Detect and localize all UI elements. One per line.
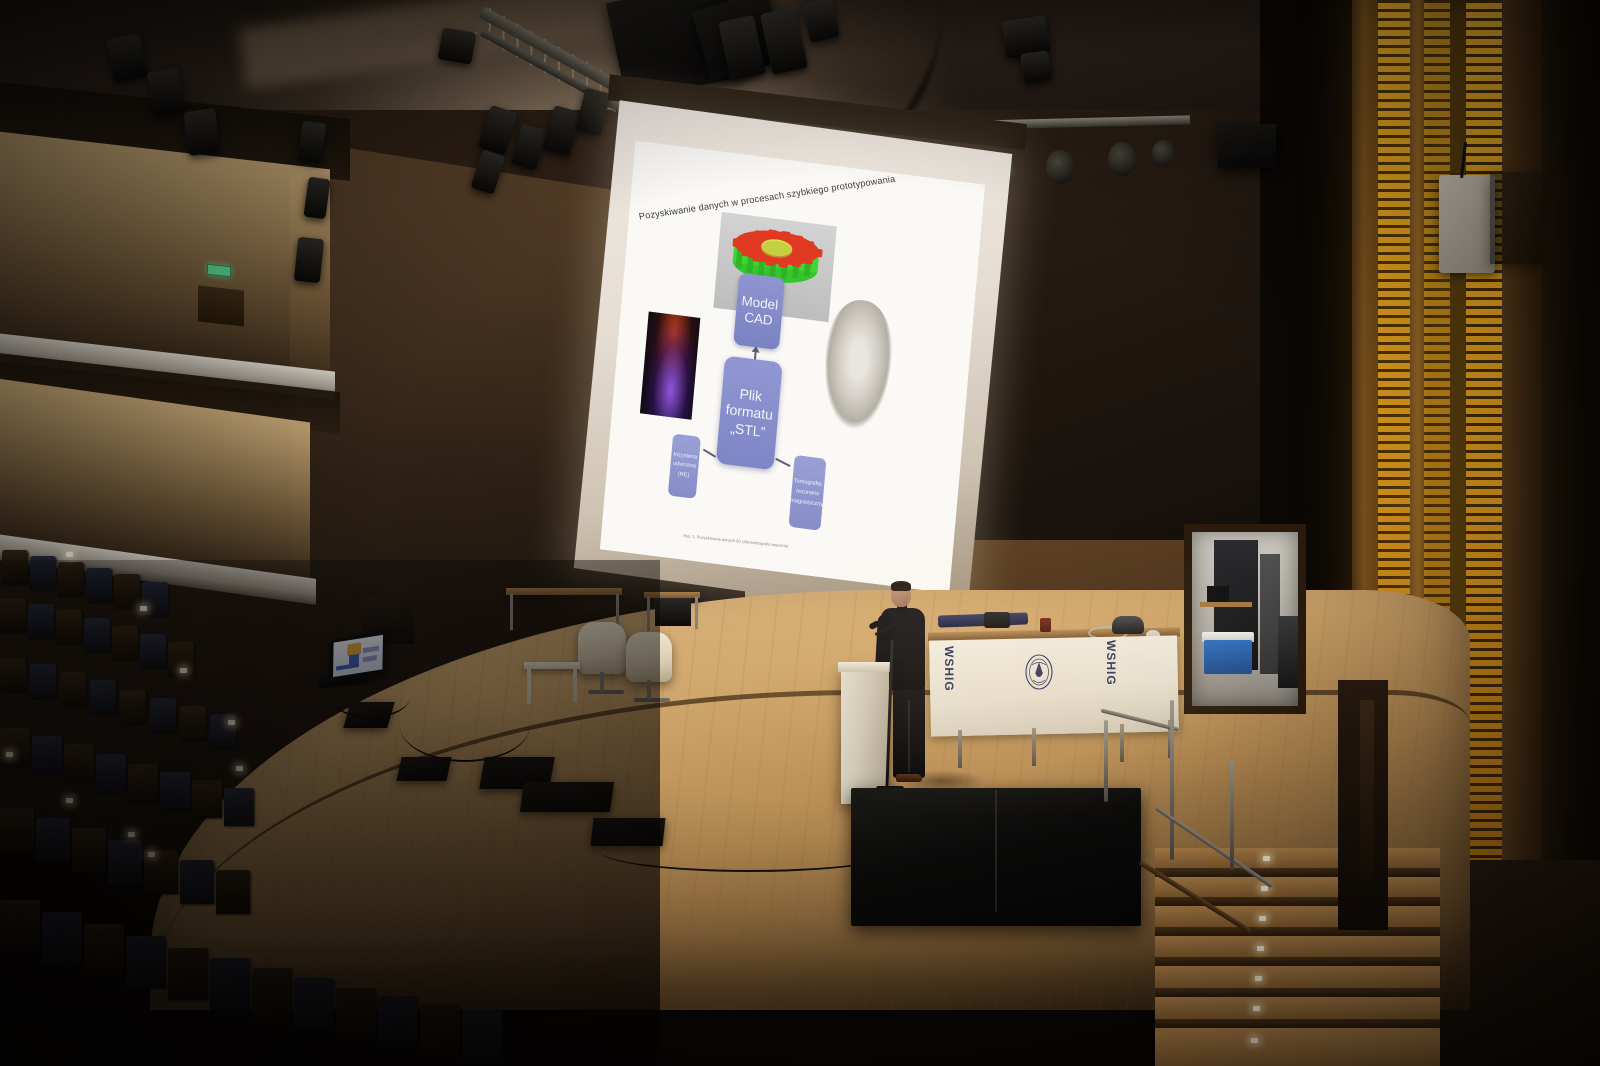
presenter-shoe xyxy=(896,774,922,782)
aisle-light xyxy=(6,752,13,757)
presenter-hair xyxy=(891,581,911,591)
wall-speaker xyxy=(1490,172,1542,264)
seat xyxy=(0,658,26,692)
stair-riser xyxy=(1155,957,1440,966)
stage-light-icon xyxy=(1046,150,1074,184)
table-leg xyxy=(647,597,650,631)
seat xyxy=(36,818,70,862)
step-marker-light xyxy=(1261,886,1268,891)
stair-handrail-post xyxy=(1170,700,1174,860)
aisle-light xyxy=(228,720,235,725)
seat xyxy=(90,680,116,714)
aisle-light xyxy=(128,832,135,837)
stair-riser xyxy=(1155,927,1440,936)
laser-sintering-photo xyxy=(640,312,701,420)
seating-area xyxy=(0,540,640,1066)
seat xyxy=(0,598,26,632)
seat xyxy=(30,556,56,590)
seat xyxy=(420,1004,460,1056)
seat xyxy=(72,828,106,872)
seat xyxy=(160,772,190,810)
aisle-light xyxy=(180,668,187,673)
presentation-slide: Pozyskiwanie danych w procesach szybkieg… xyxy=(600,141,985,594)
lens-barrel xyxy=(984,612,1010,628)
seat xyxy=(86,568,112,602)
stage-light-icon xyxy=(294,237,324,283)
stair-riser xyxy=(1155,988,1440,997)
step-marker-light xyxy=(1251,1038,1258,1043)
stage-light-icon xyxy=(183,108,221,156)
door-frame xyxy=(1184,524,1306,714)
arrow-left-icon xyxy=(703,449,716,458)
seat xyxy=(84,618,110,652)
slide-box-reverse-engineering: Inżynieria odwrotna (RE) xyxy=(668,434,701,499)
table-leg xyxy=(958,730,962,768)
box-stl-line3: „STL” xyxy=(730,419,766,441)
aisle-light xyxy=(148,852,155,857)
step-marker-light xyxy=(1263,856,1270,861)
wall-speaker xyxy=(1218,124,1276,168)
slide-title: Pozyskiwanie danych w procesach szybkieg… xyxy=(638,174,896,222)
seat xyxy=(64,744,94,782)
chair-post xyxy=(647,680,651,700)
seat xyxy=(28,604,54,638)
stair-step xyxy=(1155,877,1440,897)
seat xyxy=(60,672,86,706)
seat xyxy=(140,634,166,668)
seat xyxy=(378,996,418,1048)
equipment-box xyxy=(655,598,691,626)
seat xyxy=(294,978,334,1030)
table-leg xyxy=(1032,728,1036,766)
seat xyxy=(112,626,138,660)
stair-step xyxy=(1155,1028,1440,1066)
lectern xyxy=(841,668,889,804)
seat xyxy=(0,900,40,952)
balcony-door xyxy=(198,285,244,326)
seat xyxy=(252,968,292,1020)
stairs xyxy=(1155,848,1440,1066)
stair-riser xyxy=(1155,1019,1440,1028)
arrow-right-icon xyxy=(776,458,791,467)
stair-step xyxy=(1155,966,1440,988)
slide-box-model-cad: Model CAD xyxy=(733,273,785,351)
seat xyxy=(32,736,62,774)
slide-box-stl: Plik formatu „STL” xyxy=(716,355,783,470)
ct-scan-skull-render xyxy=(820,296,897,432)
seat xyxy=(0,728,30,766)
slide-caption: Rys. 1. Pozyskiwanie danych 3D (Stereoli… xyxy=(683,533,788,548)
kettle xyxy=(1112,616,1144,634)
seat xyxy=(126,936,166,988)
seat xyxy=(168,948,208,1000)
banner-text-right: WSHIG xyxy=(1104,640,1118,686)
university-crest-icon xyxy=(1024,652,1054,692)
table-leg xyxy=(1120,724,1124,762)
seat xyxy=(114,574,140,608)
aisle-light xyxy=(236,766,243,771)
box-re-line3: (RE) xyxy=(677,470,689,481)
seat xyxy=(84,924,124,976)
aisle-light xyxy=(66,798,73,803)
slide-box-tomography: Tomografia, rezonans magnetyczny xyxy=(788,455,826,531)
table-leg xyxy=(695,597,698,629)
stage-light-icon xyxy=(1152,140,1174,166)
stage-light-icon xyxy=(1108,142,1136,176)
step-marker-light xyxy=(1257,946,1264,951)
stair-step xyxy=(1155,906,1440,927)
stair-panel xyxy=(1360,700,1374,880)
step-marker-light xyxy=(1255,976,1262,981)
step-marker-light xyxy=(1259,916,1266,921)
stair-handrail-post xyxy=(1104,720,1108,802)
drink-cup xyxy=(1040,618,1051,632)
auditorium-photo: Pozyskiwanie danych w procesach szybkieg… xyxy=(0,0,1600,1066)
lectern-top xyxy=(838,662,892,672)
seat xyxy=(120,690,146,724)
stair-handrail-diagonal xyxy=(1230,760,1234,870)
seat xyxy=(180,706,206,740)
seat xyxy=(58,562,84,596)
stair-riser xyxy=(1155,868,1440,877)
seat xyxy=(0,808,34,852)
presenter-leg-gap xyxy=(908,700,910,772)
seat xyxy=(108,840,142,884)
seat xyxy=(180,860,214,904)
banner-text-left: WSHIG xyxy=(942,646,956,692)
seat xyxy=(336,988,376,1040)
seat xyxy=(150,698,176,732)
seat xyxy=(96,754,126,792)
exit-sign xyxy=(207,264,231,278)
seat xyxy=(224,788,254,826)
seat xyxy=(192,780,222,818)
seat xyxy=(216,870,250,914)
seat xyxy=(30,664,56,698)
box-cad-line2: CAD xyxy=(744,310,774,330)
stage-light-icon xyxy=(1020,50,1052,84)
seat xyxy=(42,912,82,964)
seat xyxy=(2,550,28,584)
seat xyxy=(128,764,158,802)
stage-light-icon xyxy=(437,27,476,64)
aisle-light xyxy=(140,606,147,611)
seat xyxy=(210,958,250,1010)
wall-mounted-device xyxy=(1439,175,1495,273)
stair-step xyxy=(1155,997,1440,1019)
seat xyxy=(56,610,82,644)
stair-step xyxy=(1155,936,1440,957)
arrow-up-head-icon xyxy=(752,346,760,353)
seat xyxy=(462,1010,502,1062)
riser-seam xyxy=(995,790,997,912)
stair-step xyxy=(1155,848,1440,868)
step-marker-light xyxy=(1253,1006,1260,1011)
aisle-light xyxy=(66,552,73,557)
